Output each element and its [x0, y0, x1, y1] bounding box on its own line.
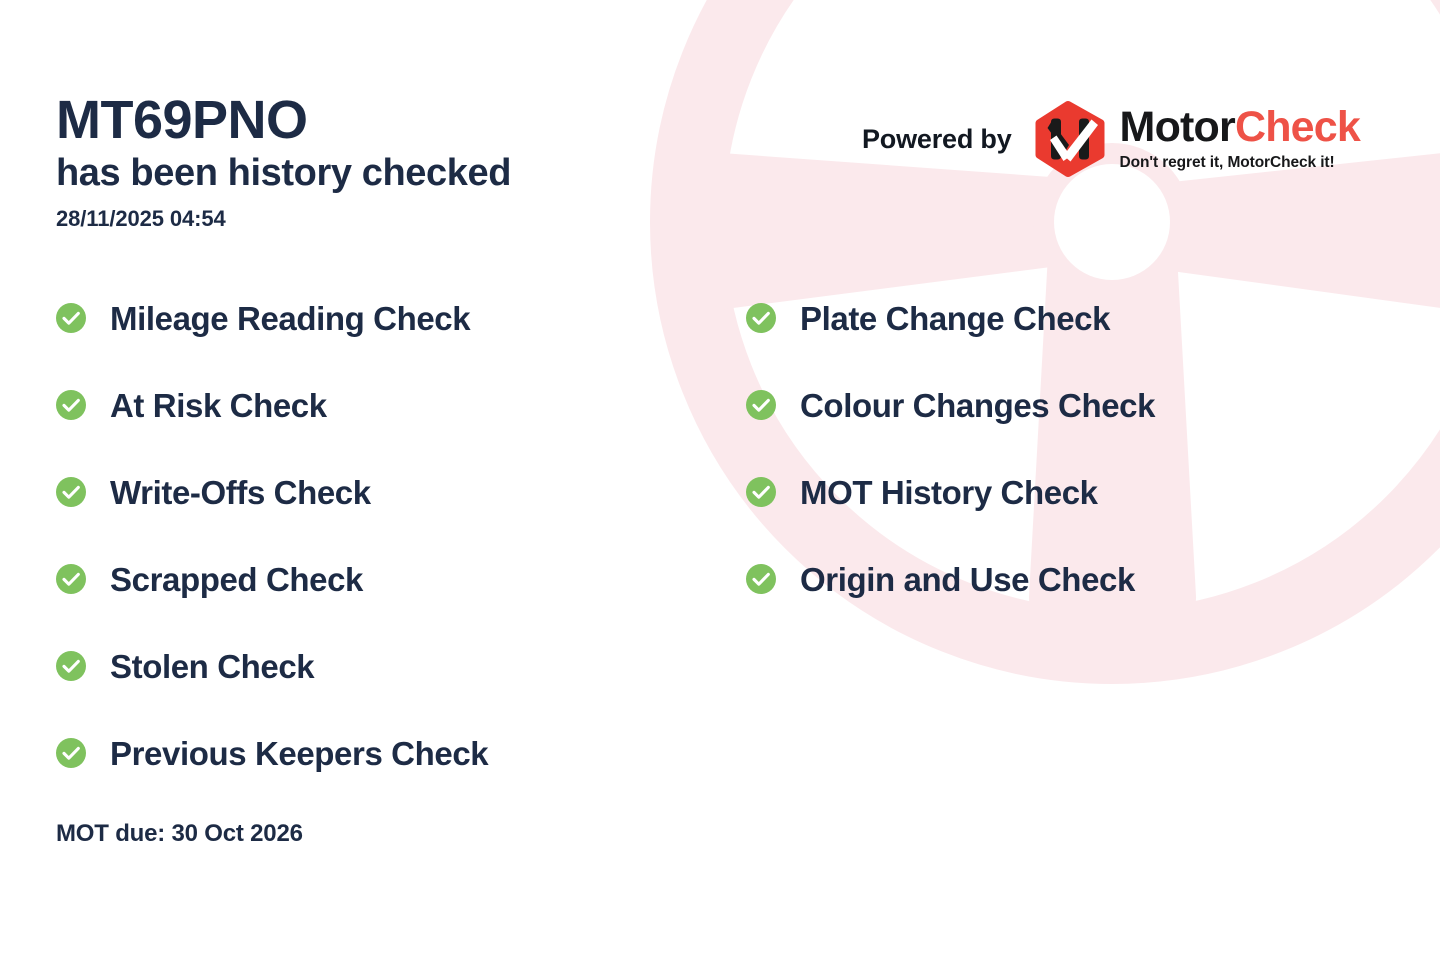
check-list-right: Plate Change Check Colour Changes Check …	[746, 296, 1155, 601]
check-item: Origin and Use Check	[746, 557, 1155, 601]
check-item-label: Scrapped Check	[110, 563, 363, 596]
check-circle-icon	[746, 303, 776, 333]
check-item: At Risk Check	[56, 383, 488, 427]
history-checked-subtitle: has been history checked	[56, 151, 511, 196]
check-circle-icon	[56, 303, 86, 333]
check-item-label: Stolen Check	[110, 650, 314, 683]
check-item: Colour Changes Check	[746, 383, 1155, 427]
check-item-label: Origin and Use Check	[800, 563, 1135, 596]
check-circle-icon	[56, 564, 86, 594]
check-item: MOT History Check	[746, 470, 1155, 514]
check-item: Stolen Check	[56, 644, 488, 688]
brand-tagline: Don't regret it, MotorCheck it!	[1120, 154, 1360, 172]
check-item: Plate Change Check	[746, 296, 1155, 340]
check-circle-icon	[56, 477, 86, 507]
check-item-label: Write-Offs Check	[110, 476, 371, 509]
mot-due-text: MOT due: 30 Oct 2026	[56, 820, 303, 848]
check-item-label: Colour Changes Check	[800, 389, 1155, 422]
check-item-label: Mileage Reading Check	[110, 302, 470, 335]
check-circle-icon	[746, 564, 776, 594]
check-circle-icon	[56, 390, 86, 420]
check-timestamp: 28/11/2025 04:54	[56, 206, 511, 232]
wordmark-line: MotorCheck	[1120, 106, 1360, 149]
check-circle-icon	[56, 738, 86, 768]
check-item-label: At Risk Check	[110, 389, 327, 422]
vehicle-summary: MT69PNO has been history checked 28/11/2…	[56, 92, 511, 232]
check-list-left: Mileage Reading Check At Risk Check Writ…	[56, 296, 488, 775]
check-item: Previous Keepers Check	[56, 731, 488, 775]
check-item-label: Plate Change Check	[800, 302, 1110, 335]
check-circle-icon	[746, 390, 776, 420]
motorcheck-wordmark: MotorCheck Don't regret it, MotorCheck i…	[1120, 106, 1360, 172]
wordmark-check: Check	[1235, 103, 1360, 151]
wordmark-motor: Motor	[1120, 103, 1235, 151]
powered-by-brand-bar: Powered by MotorCheck Don't regret it, M…	[862, 100, 1360, 178]
check-item: Mileage Reading Check	[56, 296, 488, 340]
history-check-card: MT69PNO has been history checked 28/11/2…	[0, 0, 1440, 960]
check-circle-icon	[746, 477, 776, 507]
check-item-label: Previous Keepers Check	[110, 737, 488, 770]
check-circle-icon	[56, 651, 86, 681]
check-item: Scrapped Check	[56, 557, 488, 601]
motorcheck-hexagon-logo-icon	[1034, 100, 1106, 178]
registration-plate: MT69PNO	[56, 92, 511, 149]
powered-by-label: Powered by	[862, 124, 1012, 155]
check-item: Write-Offs Check	[56, 470, 488, 514]
check-item-label: MOT History Check	[800, 476, 1098, 509]
